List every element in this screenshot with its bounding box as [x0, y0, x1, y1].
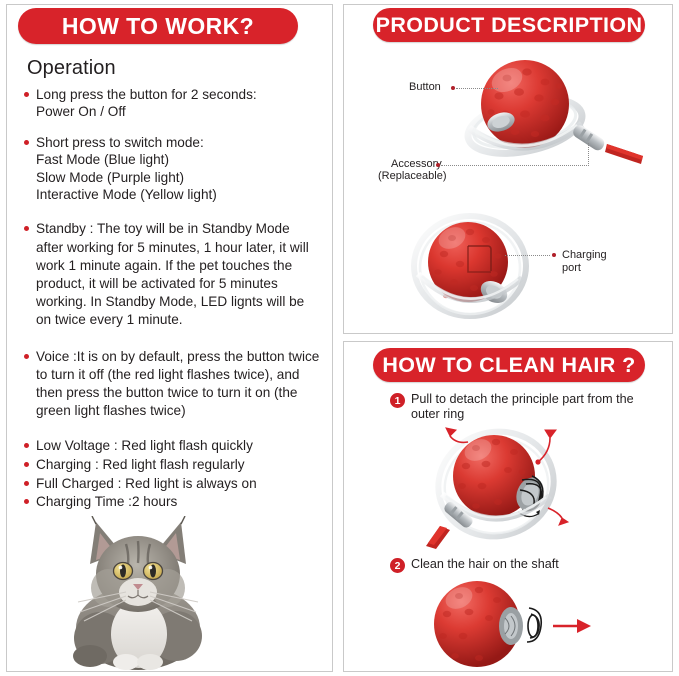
- callout-button-leader: [456, 88, 498, 89]
- status-charging-time: Charging Time :2 hours: [24, 493, 320, 512]
- instruction-block-voice: Voice :It is on by default, press the bu…: [24, 348, 320, 421]
- callout-charging-port-label-line2: port: [562, 262, 581, 275]
- callout-accessory-label-line2: (Replaceable): [378, 170, 446, 183]
- operation-heading: Operation: [27, 57, 116, 80]
- callout-button-dot: [451, 86, 455, 90]
- clean-step-1-illustration: [420, 424, 620, 549]
- callout-charging-port-dot: [552, 253, 556, 257]
- callout-button-label: Button: [409, 81, 441, 94]
- status-charging: Charging : Red light flash regularly: [24, 456, 320, 475]
- header-how-to-work: HOW TO WORK?: [18, 8, 298, 44]
- clean-step-2-illustration: [425, 578, 605, 670]
- header-how-to-clean-hair: HOW TO CLEAN HAIR ?: [373, 348, 645, 382]
- product-figure-front: [408, 212, 568, 324]
- paragraph-standby: Standby : The toy will be in Standby Mod…: [24, 220, 320, 329]
- callout-accessory-dot: [436, 163, 440, 167]
- clean-step-1-text: Pull to detach the principle part from t…: [411, 392, 661, 422]
- sub-fast-mode: Fast Mode (Blue light): [24, 151, 320, 168]
- callout-accessory-leader: [441, 165, 589, 166]
- sub-interactive-mode: Interactive Mode (Yellow light): [24, 186, 320, 203]
- callout-charging-port-leader: [505, 255, 550, 256]
- clean-step-2-text: Clean the hair on the shaft: [411, 557, 559, 572]
- paragraph-voice: Voice :It is on by default, press the bu…: [24, 348, 320, 421]
- instruction-block-modes: Short press to switch mode: Fast Mode (B…: [24, 134, 320, 204]
- instruction-block-standby: Standby : The toy will be in Standby Mod…: [24, 220, 320, 329]
- status-indicator-list: Low Voltage : Red light flash quickly Ch…: [24, 437, 320, 511]
- status-full-charged: Full Charged : Red light is always on: [24, 475, 320, 494]
- product-figure-angled: [455, 52, 655, 172]
- infographic-page: HOW TO WORK? Operation Long press the bu…: [0, 0, 679, 676]
- clean-step-1: 1 Pull to detach the principle part from…: [390, 392, 661, 422]
- bullet-short-press: Short press to switch mode:: [24, 134, 320, 151]
- header-product-description: PRODUCT DESCRIPTION: [373, 8, 645, 42]
- sub-power-on-off: Power On / Off: [24, 103, 320, 120]
- instruction-block-power: Long press the button for 2 seconds: Pow…: [24, 86, 320, 121]
- status-low-voltage: Low Voltage : Red light flash quickly: [24, 437, 320, 456]
- callout-charging-port-label: Charging: [562, 249, 607, 262]
- how-to-work-body: Long press the button for 2 seconds: Pow…: [24, 86, 320, 525]
- bullet-long-press: Long press the button for 2 seconds:: [24, 86, 320, 103]
- clean-step-2: 2 Clean the hair on the shaft: [390, 557, 559, 573]
- callout-accessory-leader-vertical: [588, 143, 590, 166]
- sub-slow-mode: Slow Mode (Purple light): [24, 169, 320, 186]
- cat-photo: [38, 516, 238, 671]
- clean-step-1-number: 1: [390, 393, 405, 408]
- clean-step-2-number: 2: [390, 558, 405, 573]
